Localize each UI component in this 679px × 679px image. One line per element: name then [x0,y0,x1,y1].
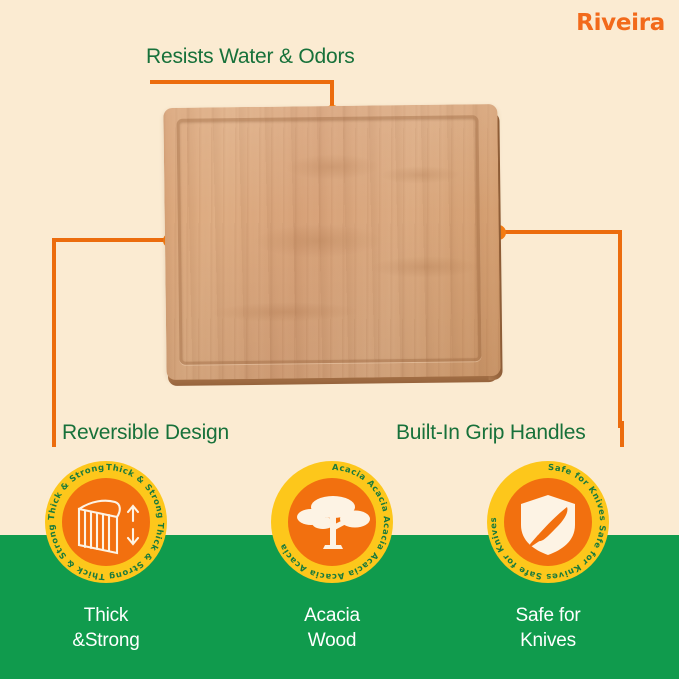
brand-logo: Riveira [576,10,665,36]
badge-safe-for-knives: Safe for Knives Safe for Knives Safe for… [487,461,609,583]
connector-line-left-horizontal [52,238,170,242]
badge-acacia-wood: Acacia Acacia Acacia Acacia Acacia Acaci… [271,461,393,583]
badge-thick-strong: Thick & Strong Thick & Strong Thick & St… [45,461,167,583]
caption-line-2: Wood [232,628,432,653]
caption-line-1: Thick [6,603,206,628]
connector-line-right-vertical [618,230,622,428]
connector-line-top-horizontal [150,80,334,84]
shield-knife-icon [487,461,609,583]
badge-caption-acacia-wood: Acacia Wood [232,603,432,653]
connector-line-left-vertical [52,238,56,428]
caption-line-2: Knives [448,628,648,653]
product-infographic: Riveira Resists Water & Odors Reversible… [0,0,679,679]
board-thickness-arrow-icon [45,461,167,583]
caption-line-2: &Strong [6,628,206,653]
badge-caption-thick-strong: Thick &Strong [6,603,206,653]
badge-caption-safe-for-knives: Safe for Knives [448,603,648,653]
callout-label-reversible-design: Reversible Design [62,421,229,445]
juice-groove [177,115,482,365]
caption-line-1: Safe for [448,603,648,628]
caption-line-1: Acacia [232,603,432,628]
callout-label-grip-handles: Built-In Grip Handles [396,421,586,445]
cutting-board-image [165,106,505,391]
callout-label-resists-water-odors: Resists Water & Odors [146,45,355,69]
acacia-tree-icon [271,461,393,583]
connector-line-right-horizontal [498,230,622,234]
